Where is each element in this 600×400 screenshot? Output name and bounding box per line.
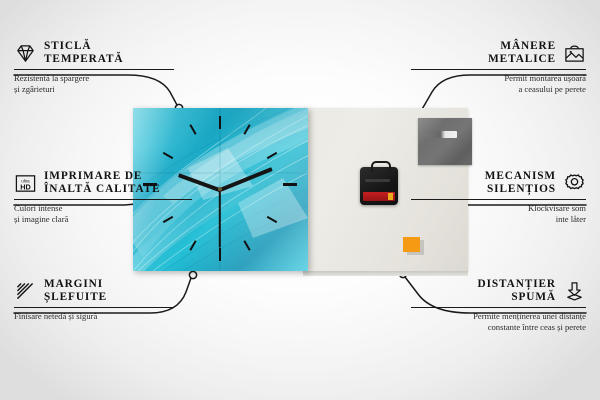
battery-terminal xyxy=(388,193,393,200)
callout-rule xyxy=(411,199,586,200)
callout-subtitle: Culori intense și imagine clară xyxy=(14,203,204,223)
diamond-icon xyxy=(14,42,37,65)
callout-distantier-spuma[interactable]: DISTANȚIER SPUMĂ Permite menținerea unei… xyxy=(411,278,586,332)
callout-subtitle: Permite menținerea unei distanțe constan… xyxy=(411,311,586,331)
callout-subtitle: Klockvisare som inte låter xyxy=(411,203,586,223)
clock-pivot xyxy=(218,187,222,191)
callout-title: STICLĂ TEMPERATĂ xyxy=(44,40,123,66)
callout-mecanism-silentios[interactable]: MECANISM SILENȚIOS Klockvisare som inte … xyxy=(411,170,586,224)
callout-title: DISTANȚIER SPUMĂ xyxy=(478,278,556,304)
callout-subtitle: Permit montarea ușoară a ceasului pe per… xyxy=(411,73,586,93)
callout-rule xyxy=(411,307,586,308)
callout-header: MARGINI ȘLEFUITE xyxy=(14,278,189,304)
callout-header: STICLĂ TEMPERATĂ xyxy=(14,40,189,66)
callout-header: DISTANȚIER SPUMĂ xyxy=(411,278,586,304)
callout-header: MÂNERE METALICE xyxy=(411,40,586,66)
mechanism-detail xyxy=(365,179,390,182)
polished-edges-icon xyxy=(14,280,37,303)
picture-hanger-icon xyxy=(563,42,586,65)
callout-margini-slefuite[interactable]: MARGINI ȘLEFUITE Finisare netedă și sigu… xyxy=(14,278,189,322)
svg-text:HD: HD xyxy=(20,182,31,191)
callout-rule xyxy=(411,69,586,70)
arrow-down-layers-icon xyxy=(563,280,586,303)
clock-mechanism xyxy=(360,167,398,205)
hanger-slot xyxy=(427,131,457,138)
callout-header: MECANISM SILENȚIOS xyxy=(411,170,586,196)
callout-imprimare-calitate[interactable]: ultra HD IMPRIMARE DE ÎNALTĂ CALITATE Cu… xyxy=(14,170,204,224)
callout-rule xyxy=(14,69,174,70)
callout-rule xyxy=(14,199,192,200)
clock-tick xyxy=(219,248,221,261)
battery xyxy=(363,192,395,201)
callout-manere-metalice[interactable]: MÂNERE METALICE Permit montarea ușoară a… xyxy=(411,40,586,94)
callout-header: ultra HD IMPRIMARE DE ÎNALTĂ CALITATE xyxy=(14,170,204,196)
callout-title: MECANISM SILENȚIOS xyxy=(485,170,556,196)
callout-title: IMPRIMARE DE ÎNALTĂ CALITATE xyxy=(44,170,161,196)
mechanism-hanger-tab xyxy=(371,161,391,172)
clock-second-hand xyxy=(219,189,221,247)
callout-title: MARGINI ȘLEFUITE xyxy=(44,278,107,304)
metal-hanger-bracket xyxy=(418,118,472,165)
clock-tick xyxy=(219,116,221,129)
callout-subtitle: Rezistentă la spargere și zgârieturi xyxy=(14,73,189,93)
clock-tick xyxy=(283,183,297,186)
infographic-canvas: STICLĂ TEMPERATĂ Rezistentă la spargere … xyxy=(0,0,600,400)
callout-rule xyxy=(14,307,174,308)
callout-title: MÂNERE METALICE xyxy=(488,40,556,66)
foam-spacer xyxy=(403,237,420,252)
callout-subtitle: Finisare netedă și sigură xyxy=(14,311,189,321)
ultra-hd-icon: ultra HD xyxy=(14,172,37,195)
gear-icon xyxy=(563,172,586,195)
callout-sticla-temperata[interactable]: STICLĂ TEMPERATĂ Rezistentă la spargere … xyxy=(14,40,189,94)
